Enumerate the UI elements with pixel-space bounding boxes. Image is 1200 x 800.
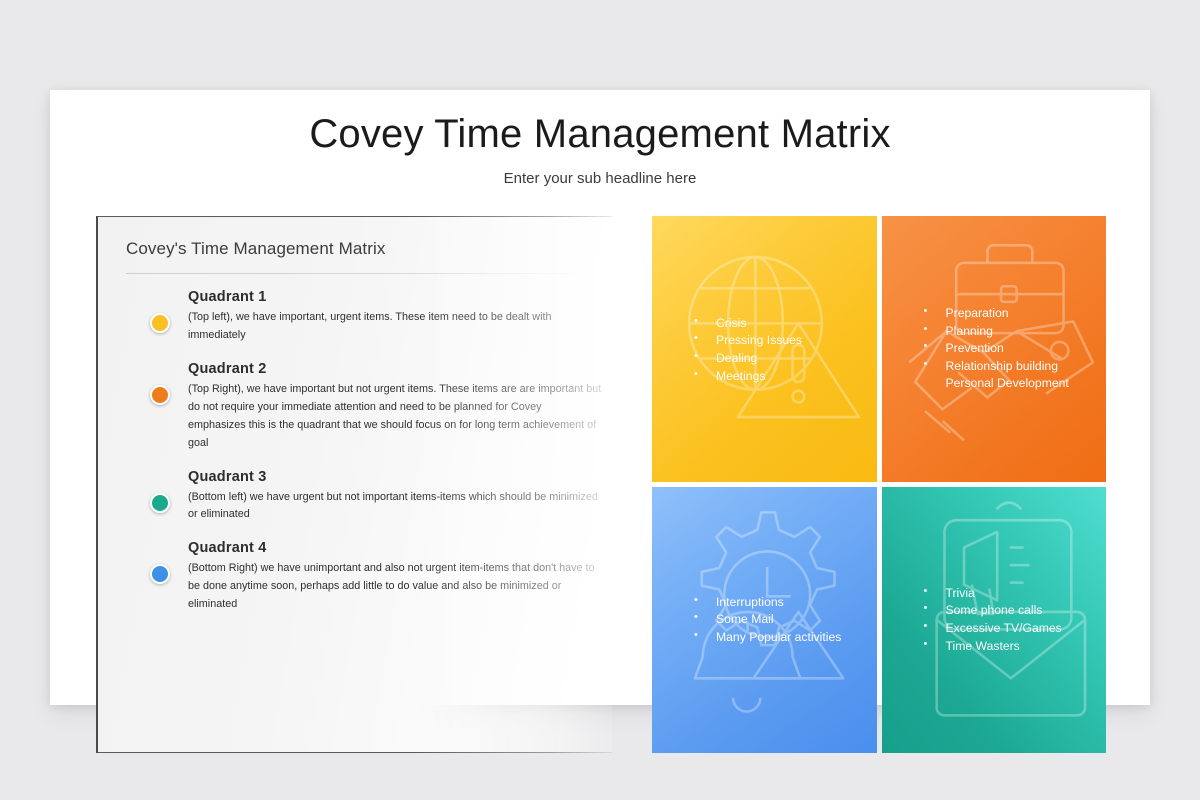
list-item: Crisis: [694, 315, 802, 333]
slide-canvas: Covey Time Management Matrix Enter your …: [50, 90, 1150, 705]
list-item: Pressing Issues: [694, 332, 802, 350]
list-item: Preparation: [924, 305, 1069, 323]
quadrant-description-list: Quadrant 1 (Top left), we have important…: [126, 289, 602, 614]
quadrant-3-title: Quadrant 3: [188, 469, 602, 485]
quadrant-3-dot: [150, 493, 170, 513]
list-item: Excessive TV/Games: [924, 620, 1062, 638]
list-item[interactable]: Quadrant 1 (Top left), we have important…: [126, 289, 602, 345]
quadrant-4-dot: [150, 564, 170, 584]
list-item: Dealing: [694, 350, 802, 368]
quadrant-4-body: (Bottom Right) we have unimportant and a…: [188, 560, 602, 614]
quadrant-1-title: Quadrant 1: [188, 289, 602, 305]
list-item: Prevention: [924, 340, 1069, 358]
list-item[interactable]: Quadrant 4 (Bottom Right) we have unimpo…: [126, 540, 602, 614]
list-item: Some Mail: [694, 611, 841, 629]
page-subtitle: Enter your sub headline here: [50, 170, 1150, 187]
list-item[interactable]: Quadrant 2 (Top Right), we have importan…: [126, 361, 602, 453]
matrix-quadrant-1[interactable]: Crisis Pressing Issues Dealing Meetings: [652, 216, 877, 482]
description-panel: Covey's Time Management Matrix Quadrant …: [96, 216, 612, 753]
list-item: Planning: [924, 323, 1069, 341]
quadrant-1-item-list: Crisis Pressing Issues Dealing Meetings: [652, 313, 802, 385]
quadrant-3-body: (Bottom left) we have urgent but not imp…: [188, 489, 602, 525]
matrix-quadrant-4[interactable]: Trivia Some phone calls Excessive TV/Gam…: [882, 487, 1107, 753]
panel-heading: Covey's Time Management Matrix: [126, 239, 602, 273]
matrix-grid: Crisis Pressing Issues Dealing Meetings: [652, 216, 1106, 753]
list-item: Many Popular activities: [694, 629, 841, 647]
list-item: Personal Development: [924, 375, 1069, 393]
quadrant-2-title: Quadrant 2: [188, 361, 602, 377]
list-item: Meetings: [694, 368, 802, 386]
panel-divider: [126, 273, 612, 274]
screenshot-root: Covey Time Management Matrix Enter your …: [0, 0, 1200, 800]
quadrant-1-body: (Top left), we have important, urgent it…: [188, 309, 602, 345]
list-item: Time Wasters: [924, 638, 1062, 656]
page-title: Covey Time Management Matrix: [50, 112, 1150, 157]
list-item: Relationship building: [924, 358, 1069, 376]
list-item: Trivia: [924, 585, 1062, 603]
quadrant-2-dot: [150, 385, 170, 405]
matrix-quadrant-2[interactable]: Preparation Planning Prevention Relation…: [882, 216, 1107, 482]
quadrant-3-item-list: Interruptions Some Mail Many Popular act…: [652, 594, 841, 647]
list-item: Interruptions: [694, 594, 841, 612]
list-item[interactable]: Quadrant 3 (Bottom left) we have urgent …: [126, 469, 602, 525]
quadrant-4-item-list: Trivia Some phone calls Excessive TV/Gam…: [882, 585, 1062, 655]
quadrant-2-body: (Top Right), we have important but not u…: [188, 381, 602, 453]
matrix-quadrant-3[interactable]: Interruptions Some Mail Many Popular act…: [652, 487, 877, 753]
quadrant-4-title: Quadrant 4: [188, 540, 602, 556]
list-item: Some phone calls: [924, 602, 1062, 620]
quadrant-1-dot: [150, 313, 170, 333]
quadrant-2-item-list: Preparation Planning Prevention Relation…: [882, 305, 1069, 393]
